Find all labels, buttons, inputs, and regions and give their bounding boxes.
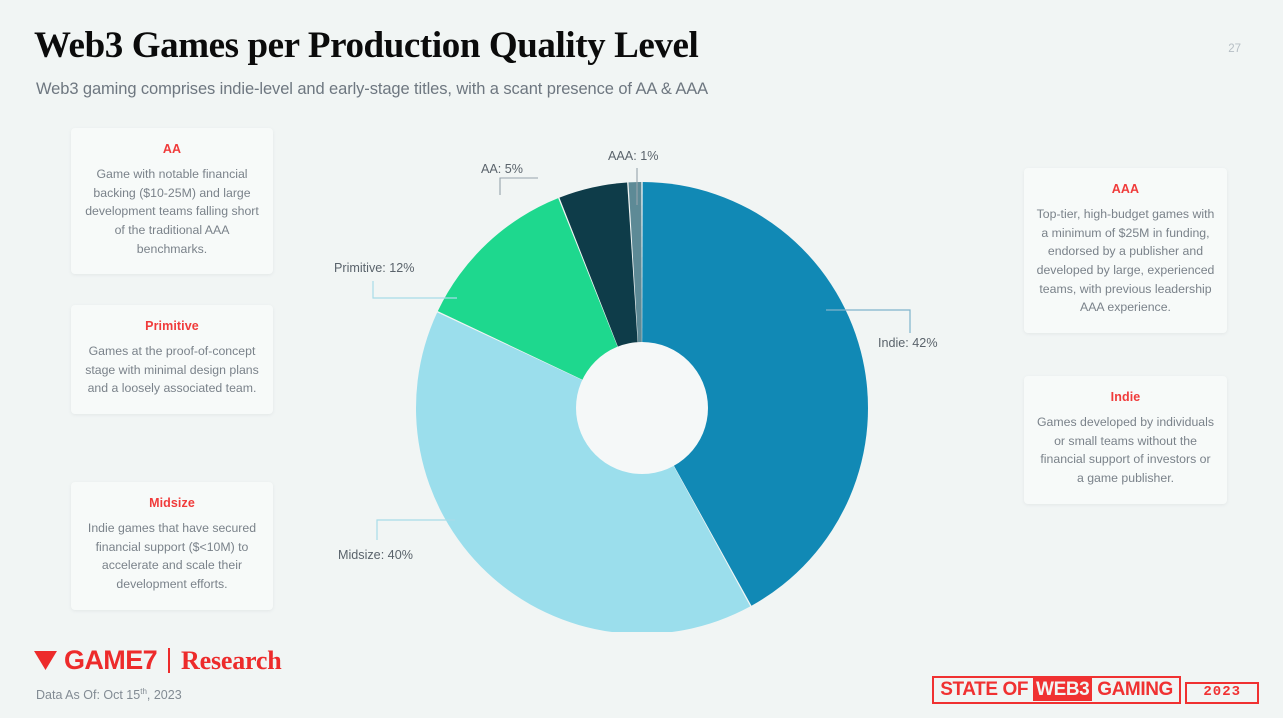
logo-research-text: Research (181, 646, 281, 676)
date-prefix: Data As Of: Oct 15 (36, 688, 140, 702)
game7-arrow-icon (34, 650, 57, 671)
pie-label-midsize: Midsize: 40% (338, 548, 413, 562)
card-title-midsize: Midsize (83, 496, 261, 510)
date-ordinal: th (140, 687, 147, 696)
info-card-aaa: AAA Top-tier, high-budget games with a m… (1024, 168, 1227, 333)
info-card-primitive: Primitive Games at the proof-of-concept … (71, 305, 273, 414)
pie-label-aaa: AAA: 1% (608, 149, 658, 163)
card-body-aa: Game with notable financial backing ($10… (83, 165, 261, 258)
page-title: Web3 Games per Production Quality Level (34, 24, 698, 67)
info-card-aa: AA Game with notable financial backing (… (71, 128, 273, 274)
donut-chart (414, 180, 870, 632)
pie-label-indie: Indie: 42% (878, 336, 938, 350)
footer-logo: GAME7 Research (34, 645, 281, 676)
card-title-indie: Indie (1036, 390, 1215, 404)
info-card-midsize: Midsize Indie games that have secured fi… (71, 482, 273, 610)
badge-part1: STATE OF (940, 679, 1028, 700)
pie-label-aa: AA: 5% (481, 162, 523, 176)
pie-label-primitive: Primitive: 12% (334, 261, 414, 275)
page-number: 27 (1228, 43, 1241, 55)
card-body-indie: Games developed by individuals or small … (1036, 413, 1215, 488)
card-title-aaa: AAA (1036, 182, 1215, 196)
date-suffix: , 2023 (147, 688, 182, 702)
state-of-web3-gaming-badge: STATE OF WEB3 GAMING 2023 (932, 676, 1259, 704)
logo-game7-text: GAME7 (64, 645, 157, 676)
badge-year-text: 2023 (1185, 682, 1259, 704)
card-title-primitive: Primitive (83, 319, 261, 333)
data-as-of-text: Data As Of: Oct 15th, 2023 (36, 687, 182, 702)
card-title-aa: AA (83, 142, 261, 156)
card-body-midsize: Indie games that have secured financial … (83, 519, 261, 594)
badge-part3: GAMING (1097, 679, 1173, 700)
info-card-indie: Indie Games developed by individuals or … (1024, 376, 1227, 504)
card-body-primitive: Games at the proof-of-concept stage with… (83, 342, 261, 398)
badge-part2: WEB3 (1033, 678, 1092, 701)
donut-hole (576, 342, 708, 474)
badge-main-text: STATE OF WEB3 GAMING (932, 676, 1181, 704)
card-body-aaa: Top-tier, high-budget games with a minim… (1036, 205, 1215, 317)
logo-divider (168, 648, 170, 673)
page-subtitle: Web3 gaming comprises indie-level and ea… (36, 80, 708, 99)
